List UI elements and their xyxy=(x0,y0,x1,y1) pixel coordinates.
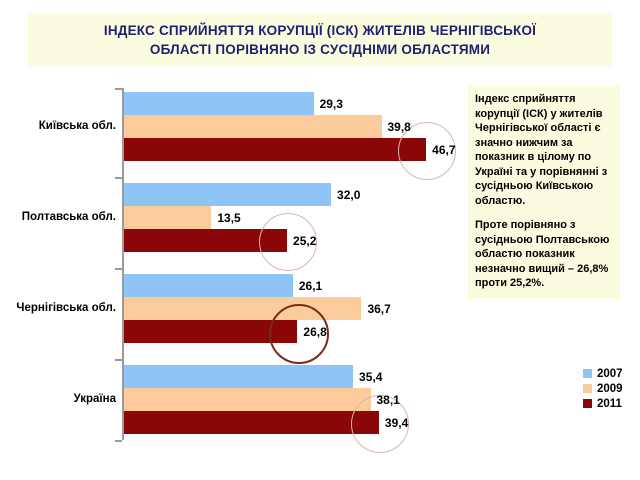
chart-legend: 200720092011 xyxy=(583,366,638,411)
bar-value-label: 36,7 xyxy=(367,302,390,316)
legend-item-2007[interactable]: 2007 xyxy=(583,366,638,381)
axis-tick-1 xyxy=(115,177,122,179)
category-label: Київська обл. xyxy=(0,120,116,132)
bar-2009[interactable] xyxy=(124,115,382,138)
bar-value-label: 46,7 xyxy=(432,143,455,157)
bar-value-label: 13,5 xyxy=(217,211,240,225)
bar-2011[interactable] xyxy=(124,411,379,434)
bar-fill xyxy=(124,297,361,320)
bar-value-label: 26,8 xyxy=(303,325,326,339)
chart-title-banner: ІНДЕКС СПРИЙНЯТТЯ КОРУПЦІЇ (ІСК) ЖИТЕЛІВ… xyxy=(28,14,612,66)
bar-value-label: 39,4 xyxy=(385,416,408,430)
category-label: Україна xyxy=(0,393,116,405)
legend-label: 2007 xyxy=(597,368,623,380)
bar-fill xyxy=(124,92,314,115)
legend-item-2009[interactable]: 2009 xyxy=(583,381,638,396)
bar-fill xyxy=(124,388,371,411)
chart-group: Київська обл.29,339,846,7 xyxy=(0,92,460,161)
bar-fill xyxy=(124,115,382,138)
legend-label: 2009 xyxy=(597,383,623,395)
bar-fill xyxy=(124,411,379,434)
legend-swatch-icon xyxy=(583,384,592,393)
page-title-line-1: ІНДЕКС СПРИЙНЯТТЯ КОРУПЦІЇ (ІСК) ЖИТЕЛІВ… xyxy=(104,21,536,40)
chart-group: Україна35,438,139,4 xyxy=(0,365,460,434)
chart-group: Чернігівська обл.26,136,726,8 xyxy=(0,274,460,343)
axis-tick-0 xyxy=(115,88,122,90)
bar-chart: Київська обл.29,339,846,7Полтавська обл.… xyxy=(0,80,460,455)
bar-2007[interactable] xyxy=(124,365,353,388)
chart-group: Полтавська обл.32,013,525,2 xyxy=(0,183,460,252)
bar-value-label: 38,1 xyxy=(377,393,400,407)
category-label: Полтавська обл. xyxy=(0,211,116,223)
bar-2011[interactable] xyxy=(124,138,426,161)
bar-value-label: 29,3 xyxy=(320,97,343,111)
bar-2007[interactable] xyxy=(124,183,331,206)
side-note-box: Індекс сприйняття корупції (ІСК) у жител… xyxy=(468,86,620,299)
category-label: Чернігівська обл. xyxy=(0,302,116,314)
bar-2007[interactable] xyxy=(124,274,293,297)
legend-swatch-icon xyxy=(583,369,592,378)
legend-item-2011[interactable]: 2011 xyxy=(583,396,638,411)
bar-fill xyxy=(124,365,353,388)
bar-2009[interactable] xyxy=(124,388,371,411)
bar-2007[interactable] xyxy=(124,92,314,115)
legend-label: 2011 xyxy=(597,398,622,410)
axis-tick-3 xyxy=(115,359,122,361)
bar-value-label: 35,4 xyxy=(359,370,382,384)
page-title-line-2: ОБЛАСТІ ПОРІВНЯНО ІЗ СУСІДНІМИ ОБЛАСТЯМИ xyxy=(150,40,490,59)
bar-fill xyxy=(124,183,331,206)
bar-value-label: 26,1 xyxy=(299,279,322,293)
side-note-paragraph-1: Індекс сприйняття корупції (ІСК) у жител… xyxy=(475,92,613,208)
bar-2009[interactable] xyxy=(124,297,361,320)
legend-swatch-icon xyxy=(583,399,592,408)
axis-tick-2 xyxy=(115,268,122,270)
bar-fill xyxy=(124,274,293,297)
axis-tick-4 xyxy=(115,440,122,442)
bar-value-label: 39,8 xyxy=(388,120,411,134)
bar-fill xyxy=(124,138,426,161)
bar-value-label: 25,2 xyxy=(293,234,316,248)
bar-value-label: 32,0 xyxy=(337,188,360,202)
bar-2009[interactable] xyxy=(124,206,211,229)
side-note-paragraph-2: Проте порівняно з сусідньою Полтавською … xyxy=(475,218,613,291)
bar-fill xyxy=(124,206,211,229)
